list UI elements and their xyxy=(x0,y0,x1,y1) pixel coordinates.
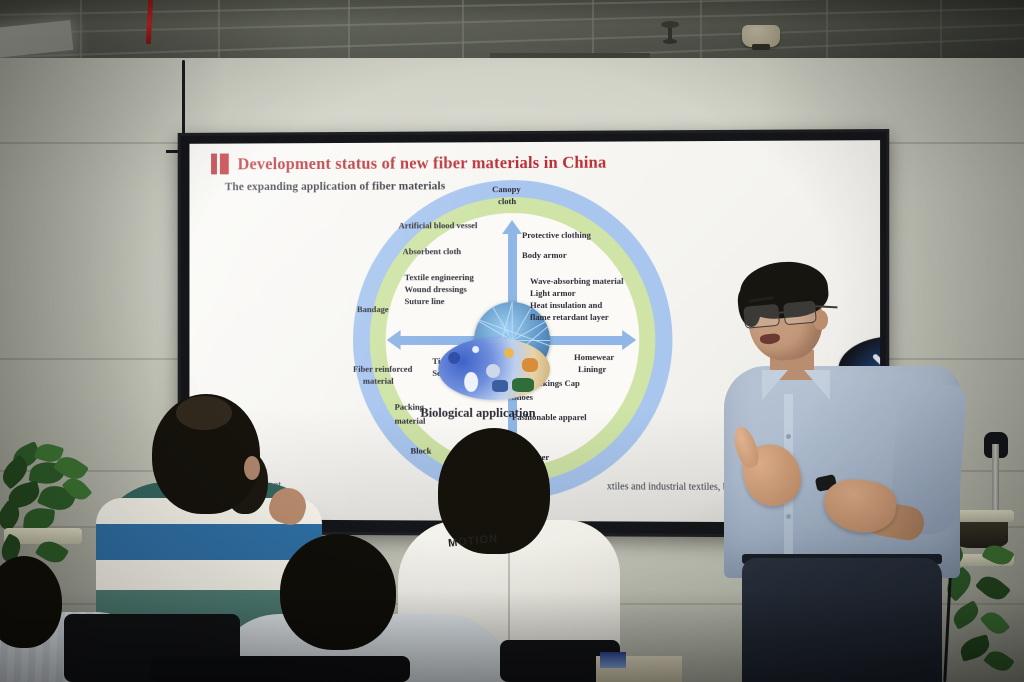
diagram-label-textile-engineering: Textile engineering xyxy=(405,272,474,283)
diagram-label-artificial-blood-vessel: Artificial blood vessel xyxy=(399,220,478,231)
diagram-label-block: Block xyxy=(410,446,431,457)
microbiology-collage-icon xyxy=(438,338,550,400)
attendee-1-scalp xyxy=(176,396,232,430)
diagram-label-light-armor: Light armor xyxy=(530,288,576,299)
diagram-label-top-2: cloth xyxy=(498,196,516,207)
red-flag-icon xyxy=(211,154,229,175)
attendee-3-head xyxy=(280,534,396,650)
attendee-1-ear xyxy=(244,456,260,480)
presenter-trousers xyxy=(742,558,942,682)
arrow-left-head xyxy=(387,330,401,350)
diagram-label-fiber-material: material xyxy=(363,376,394,387)
diagram-label-heat-insulation: Heat insulation and xyxy=(530,300,602,311)
chair-row-shadow xyxy=(150,656,410,682)
diagram-label-wound-dressings: Wound dressings xyxy=(405,284,467,295)
ceiling-shadow xyxy=(0,0,1024,62)
microphone-stand xyxy=(992,444,999,514)
presenter-collar-right xyxy=(804,370,830,400)
diagram-label-lining: Liningr xyxy=(578,364,606,375)
diagram-label-suture-line: Suture line xyxy=(405,296,445,307)
potted-plant-left xyxy=(0,444,106,574)
label-biological-application: Biological application xyxy=(420,406,535,421)
ceiling xyxy=(0,0,1024,62)
diagram-label-absorbent-cloth: Absorbent cloth xyxy=(403,246,462,257)
slide-title-bar: Development status of new fiber material… xyxy=(211,152,606,175)
diagram-label-wave-absorbing-material: Wave-absorbing material xyxy=(530,276,624,287)
lecture-room-photo: Development status of new fiber material… xyxy=(0,0,1024,682)
diagram-label-fiber-reinforced: Fiber reinforced xyxy=(353,364,412,375)
presenter xyxy=(718,258,968,682)
arrow-up-head xyxy=(502,220,522,234)
arrow-up xyxy=(508,232,517,310)
diagram-label-homewear: Homewear xyxy=(574,352,614,363)
diagram-label-bandage: Bandage xyxy=(357,304,389,315)
diagram-label-body-armor: Body armor xyxy=(522,250,567,261)
diagram-label-top-1: Canopy xyxy=(492,184,521,195)
desk-item xyxy=(600,652,626,668)
arrow-right xyxy=(546,336,624,345)
slide-title: Development status of new fiber material… xyxy=(238,152,607,174)
diagram-label-protective-clothing: Protective clothing xyxy=(522,230,591,241)
arrow-right-head xyxy=(622,330,636,350)
diagram-label-flame-retardant-layer: flame retardant layer xyxy=(530,312,609,323)
